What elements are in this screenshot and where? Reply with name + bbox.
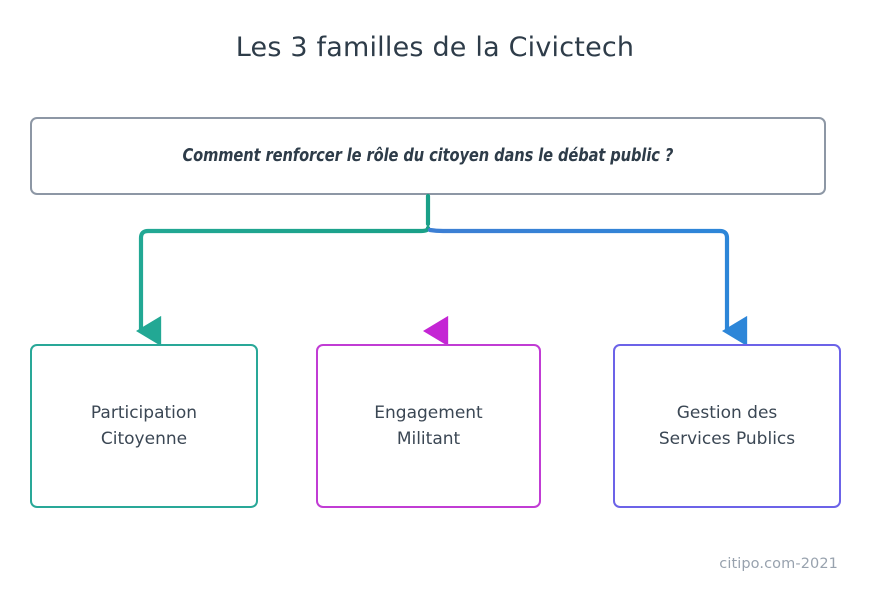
family-box-engagement-militant: Engagement Militant [316,344,541,508]
family-box-gestion-services-publics: Gestion des Services Publics [613,344,841,508]
family-label: Gestion des Services Publics [659,400,795,453]
family-label: Engagement Militant [374,400,482,453]
family-label: Participation Citoyenne [91,400,197,453]
connector-right-blue [430,230,727,331]
page-title: Les 3 familles de la Civictech [0,32,870,63]
connector-arrows [0,0,870,610]
question-box: Comment renforcer le rôle du citoyen dan… [30,117,826,195]
footer-credit: citipo.com-2021 [719,556,838,572]
diagram-canvas: Les 3 familles de la Civictech Comment r… [0,0,870,610]
question-text: Comment renforcer le rôle du citoyen dan… [183,146,674,166]
connector-left-teal [141,228,428,331]
family-box-participation-citoyenne: Participation Citoyenne [30,344,258,508]
